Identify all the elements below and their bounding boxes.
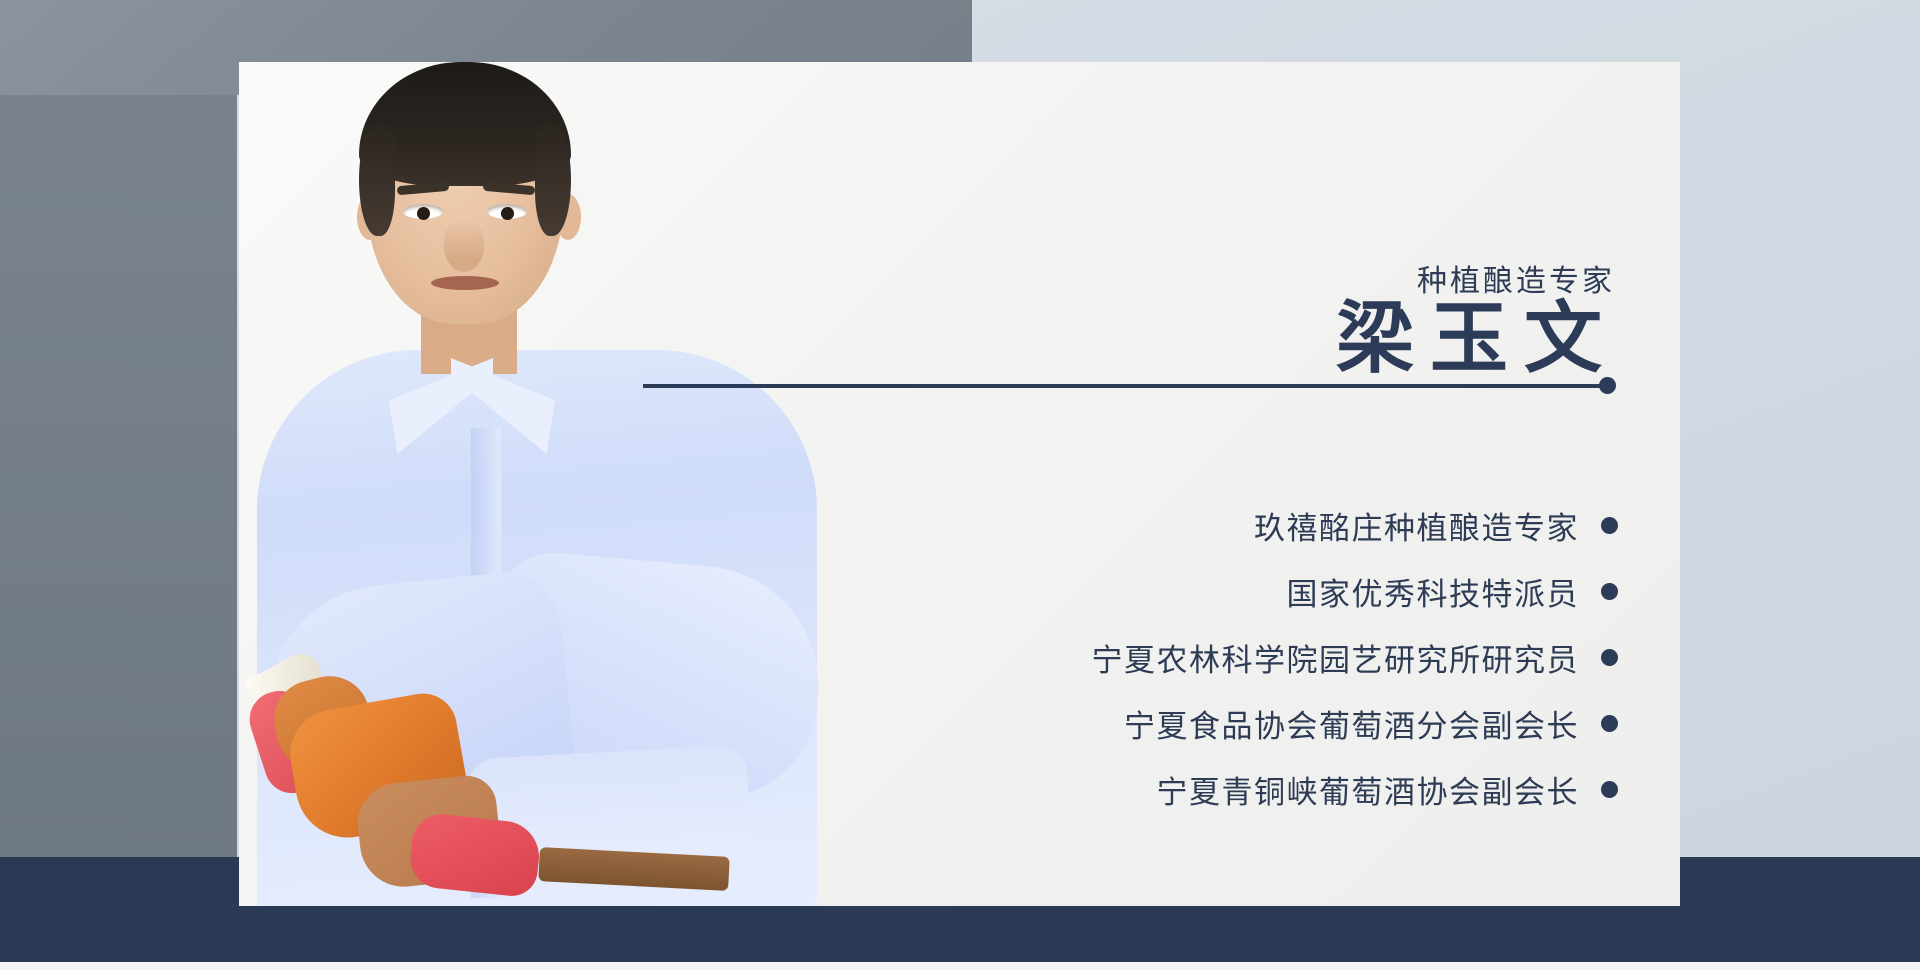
credentials-list: 玖禧酩庄种植酿造专家 国家优秀科技特派员 宁夏农林科学院园艺研究所研究员 宁夏食… — [1092, 492, 1619, 822]
divider-end-dot-icon — [1599, 377, 1616, 394]
credential-label: 宁夏农林科学院园艺研究所研究员 — [1092, 635, 1580, 680]
mouth — [431, 276, 499, 290]
hair-side-right — [535, 124, 571, 236]
background-bottom-strip — [0, 962, 1920, 970]
pupil-left — [417, 207, 430, 220]
expert-subtitle: 种植酿造专家 — [1417, 256, 1615, 300]
expert-name: 梁玉文 — [1336, 298, 1618, 380]
hair-side-left — [359, 124, 395, 236]
list-item: 宁夏食品协会葡萄酒分会副会长 — [1092, 690, 1619, 756]
bullet-dot-icon — [1601, 715, 1618, 732]
bullet-dot-icon — [1601, 649, 1618, 666]
credential-label: 玖禧酩庄种植酿造专家 — [1254, 503, 1579, 548]
portrait-photo — [239, 62, 839, 906]
background-gray-left-lower — [0, 95, 237, 857]
credential-label: 国家优秀科技特派员 — [1287, 569, 1580, 614]
credential-label: 宁夏食品协会葡萄酒分会副会长 — [1124, 701, 1579, 746]
profile-banner: 种植酿造专家 梁玉文 玖禧酩庄种植酿造专家 国家优秀科技特派员 宁夏农林科学院园… — [0, 0, 1920, 970]
list-item: 国家优秀科技特派员 — [1092, 558, 1619, 624]
bullet-dot-icon — [1601, 583, 1618, 600]
credential-label: 宁夏青铜峡葡萄酒协会副会长 — [1157, 767, 1580, 812]
horizontal-divider — [643, 384, 1611, 388]
nose — [444, 220, 484, 272]
list-item: 宁夏农林科学院园艺研究所研究员 — [1092, 624, 1619, 690]
bullet-dot-icon — [1601, 781, 1618, 798]
list-item: 宁夏青铜峡葡萄酒协会副会长 — [1092, 756, 1619, 822]
pupil-right — [501, 207, 514, 220]
profile-card: 种植酿造专家 梁玉文 玖禧酩庄种植酿造专家 国家优秀科技特派员 宁夏农林科学院园… — [239, 62, 1680, 906]
bullet-dot-icon — [1601, 517, 1618, 534]
list-item: 玖禧酩庄种植酿造专家 — [1092, 492, 1619, 558]
